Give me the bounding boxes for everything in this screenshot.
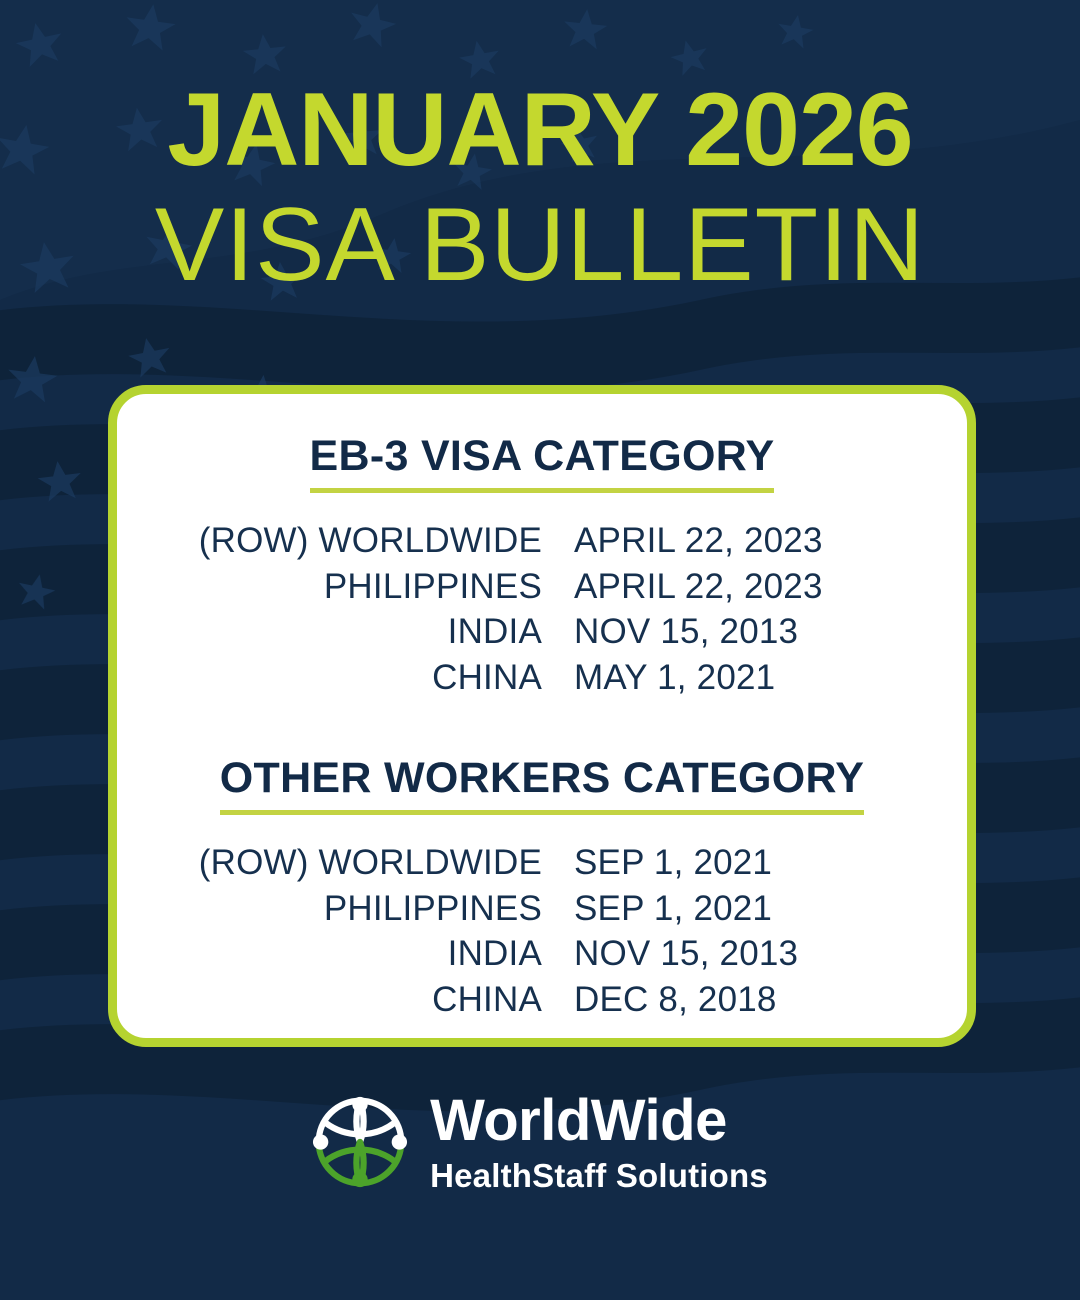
section-other-workers-title: OTHER WORKERS CATEGORY bbox=[220, 754, 864, 815]
bulletin-card: EB-3 VISA CATEGORY (ROW) WORLDWIDE APRIL… bbox=[108, 385, 976, 1047]
row-date: NOV 15, 2013 bbox=[542, 931, 897, 977]
brand-tagline: HealthStaff Solutions bbox=[430, 1159, 768, 1192]
brand-name: WorldWide bbox=[430, 1092, 727, 1150]
row-label: PHILIPPINES bbox=[187, 564, 542, 610]
section-eb3-title: EB-3 VISA CATEGORY bbox=[310, 432, 775, 493]
row-date: MAY 1, 2021 bbox=[542, 655, 897, 701]
brand-logo-text: WorldWide HealthStaff Solutions bbox=[430, 1092, 768, 1192]
section-eb3: EB-3 VISA CATEGORY (ROW) WORLDWIDE APRIL… bbox=[147, 432, 937, 700]
bulletin-card-inner: EB-3 VISA CATEGORY (ROW) WORLDWIDE APRIL… bbox=[117, 394, 967, 1038]
row-label: (ROW) WORLDWIDE bbox=[187, 518, 542, 564]
row-label: (ROW) WORLDWIDE bbox=[187, 840, 542, 886]
row-date: SEP 1, 2021 bbox=[542, 840, 897, 886]
row-date: SEP 1, 2021 bbox=[542, 886, 897, 932]
table-row: PHILIPPINES APRIL 22, 2023 bbox=[147, 564, 937, 610]
table-row: (ROW) WORLDWIDE APRIL 22, 2023 bbox=[147, 518, 937, 564]
section-other-workers-rows: (ROW) WORLDWIDE SEP 1, 2021 PHILIPPINES … bbox=[147, 840, 937, 1022]
table-row: CHINA MAY 1, 2021 bbox=[147, 655, 937, 701]
section-other-workers: OTHER WORKERS CATEGORY (ROW) WORLDWIDE S… bbox=[147, 754, 937, 1022]
brand-logo: WorldWide HealthStaff Solutions bbox=[0, 1092, 1080, 1192]
table-row: PHILIPPINES SEP 1, 2021 bbox=[147, 886, 937, 932]
row-date: APRIL 22, 2023 bbox=[542, 518, 897, 564]
section-eb3-header: EB-3 VISA CATEGORY bbox=[147, 432, 937, 493]
table-row: INDIA NOV 15, 2013 bbox=[147, 931, 937, 977]
row-label: INDIA bbox=[187, 931, 542, 977]
visa-bulletin-poster: JANUARY 2026 VISA BULLETIN EB-3 VISA CAT… bbox=[0, 0, 1080, 1300]
row-label: CHINA bbox=[187, 655, 542, 701]
title-line-1: JANUARY 2026 bbox=[0, 78, 1080, 182]
row-date: NOV 15, 2013 bbox=[542, 609, 897, 655]
table-row: CHINA DEC 8, 2018 bbox=[147, 977, 937, 1023]
row-label: PHILIPPINES bbox=[187, 886, 542, 932]
row-date: DEC 8, 2018 bbox=[542, 977, 897, 1023]
row-date: APRIL 22, 2023 bbox=[542, 564, 897, 610]
row-label: CHINA bbox=[187, 977, 542, 1023]
poster-title: JANUARY 2026 VISA BULLETIN bbox=[0, 78, 1080, 309]
row-label: INDIA bbox=[187, 609, 542, 655]
section-eb3-rows: (ROW) WORLDWIDE APRIL 22, 2023 PHILIPPIN… bbox=[147, 518, 937, 700]
title-line-2: VISA BULLETIN bbox=[0, 182, 1080, 309]
table-row: (ROW) WORLDWIDE SEP 1, 2021 bbox=[147, 840, 937, 886]
globe-icon bbox=[312, 1094, 408, 1190]
section-other-workers-header: OTHER WORKERS CATEGORY bbox=[147, 754, 937, 815]
table-row: INDIA NOV 15, 2013 bbox=[147, 609, 937, 655]
